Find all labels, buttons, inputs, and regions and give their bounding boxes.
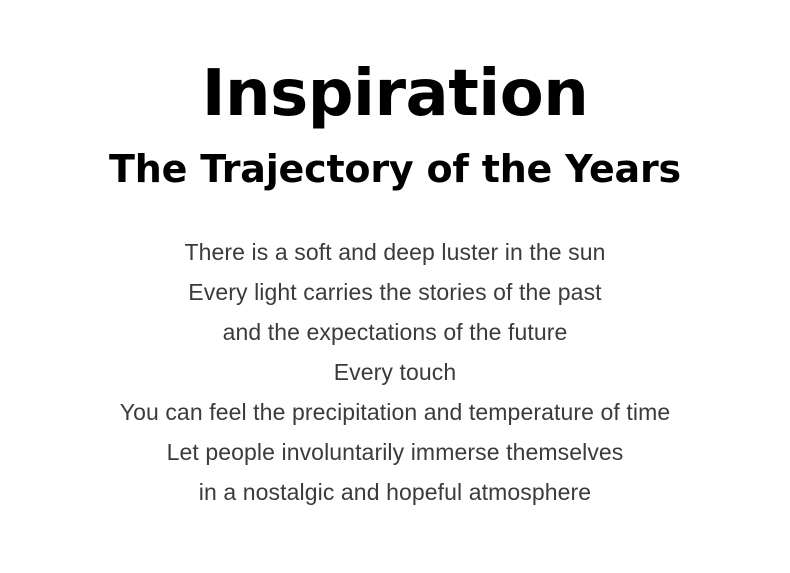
poem-line: Every light carries the stories of the p… — [188, 272, 601, 312]
poem-line: Every touch — [334, 352, 457, 392]
poem-line: There is a soft and deep luster in the s… — [184, 232, 605, 272]
poem-line: and the expectations of the future — [223, 312, 568, 352]
poster-canvas: Inspiration The Trajectory of the Years … — [0, 0, 790, 573]
page-subtitle: The Trajectory of the Years — [109, 150, 681, 188]
poem-line: in a nostalgic and hopeful atmosphere — [199, 472, 591, 512]
poem-line: You can feel the precipitation and tempe… — [120, 392, 671, 432]
page-title: Inspiration — [202, 62, 589, 126]
poem-line: Let people involuntarily immerse themsel… — [167, 432, 624, 472]
poem-body: There is a soft and deep luster in the s… — [120, 232, 671, 512]
